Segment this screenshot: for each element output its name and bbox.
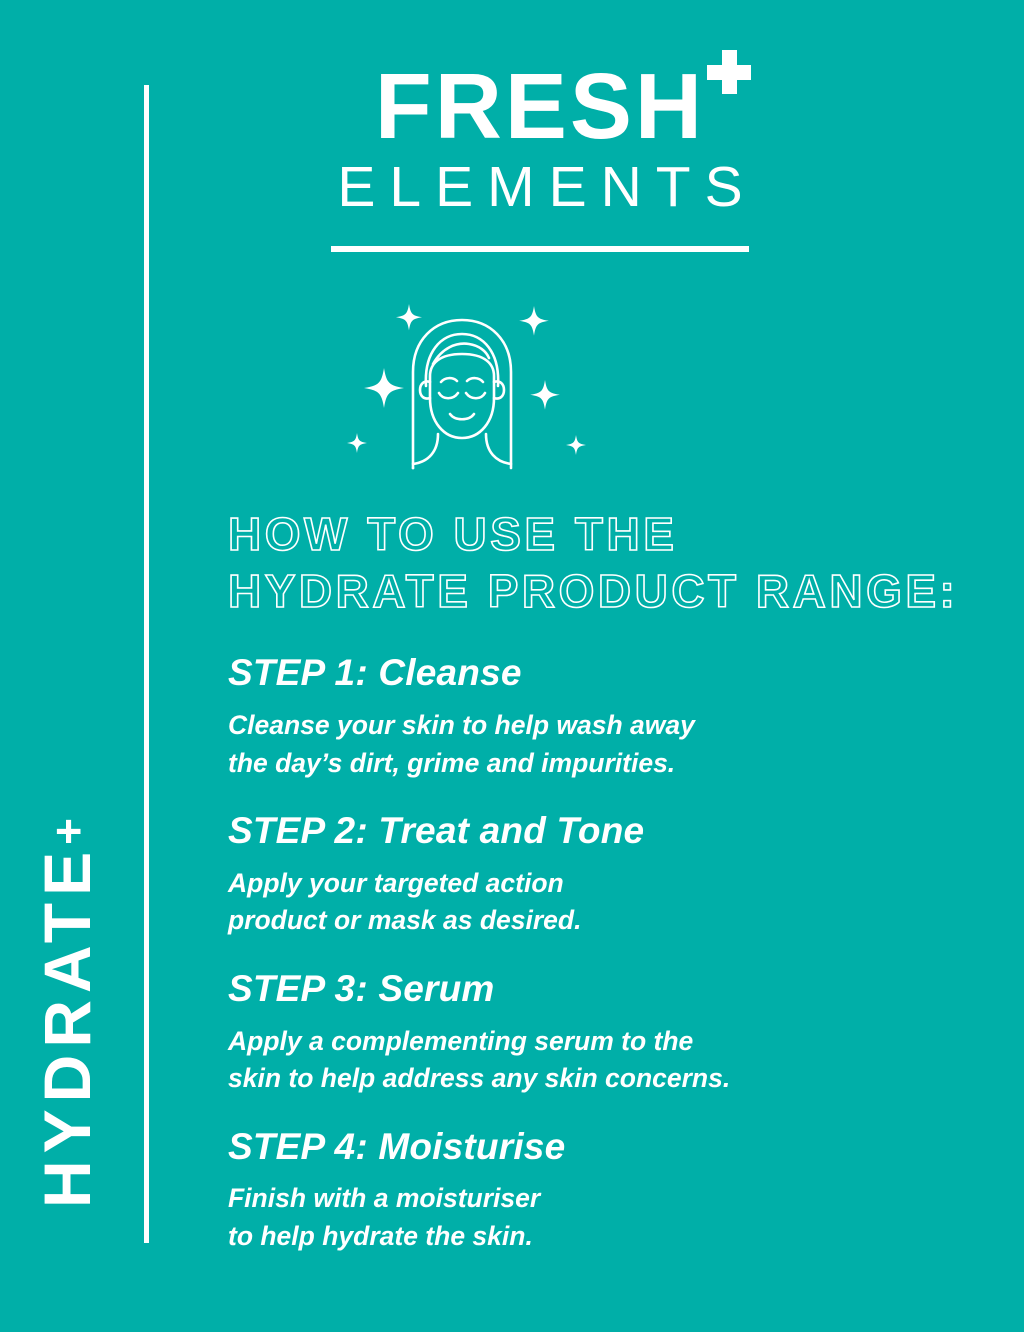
step-body: Apply your targeted action product or ma… bbox=[228, 865, 1024, 940]
step-body-line: to help hydrate the skin. bbox=[228, 1218, 1024, 1256]
step-title: STEP 1: Cleanse bbox=[228, 652, 1024, 695]
step-title: STEP 2: Treat and Tone bbox=[228, 810, 1024, 853]
step-item: STEP 2: Treat and Tone Apply your target… bbox=[228, 810, 1024, 940]
sparkles-group bbox=[347, 304, 586, 455]
logo-primary-row: FRESH bbox=[375, 62, 705, 150]
logo-primary-text: FRESH bbox=[375, 62, 705, 150]
face-with-sparkles-icon bbox=[338, 290, 618, 480]
logo-underline-rule bbox=[331, 246, 749, 252]
side-label-plus-icon: + bbox=[42, 818, 94, 845]
section-heading: HOW TO USE THE HYDRATE PRODUCT RANGE: bbox=[228, 506, 1024, 620]
step-body-line: Apply a complementing serum to the bbox=[228, 1023, 1024, 1061]
step-body-line: skin to help address any skin concerns. bbox=[228, 1060, 1024, 1098]
plus-icon bbox=[707, 50, 751, 94]
step-body: Finish with a moisturiser to help hydrat… bbox=[228, 1180, 1024, 1255]
section-heading-line-2: HYDRATE PRODUCT RANGE: bbox=[228, 563, 1024, 620]
step-body: Apply a complementing serum to the skin … bbox=[228, 1023, 1024, 1098]
logo-secondary-text: ELEMENTS bbox=[190, 154, 890, 220]
side-label-hydrate: HYDRATE+ bbox=[34, 733, 100, 1293]
step-body-line: product or mask as desired. bbox=[228, 902, 1024, 940]
step-item: STEP 4: Moisturise Finish with a moistur… bbox=[228, 1126, 1024, 1256]
step-body-line: Apply your targeted action bbox=[228, 865, 1024, 903]
step-body-line: Finish with a moisturiser bbox=[228, 1180, 1024, 1218]
section-heading-line-1: HOW TO USE THE bbox=[228, 506, 1024, 563]
step-title: STEP 3: Serum bbox=[228, 968, 1024, 1011]
step-body-line: the day’s dirt, grime and impurities. bbox=[228, 745, 1024, 783]
brand-logo: FRESH ELEMENTS bbox=[190, 0, 890, 252]
content-column: FRESH ELEMENTS bbox=[176, 0, 1024, 1332]
step-body-line: Cleanse your skin to help wash away bbox=[228, 707, 1024, 745]
step-body: Cleanse your skin to help wash away the … bbox=[228, 707, 1024, 782]
step-item: STEP 3: Serum Apply a complementing seru… bbox=[228, 968, 1024, 1098]
steps-list: STEP 1: Cleanse Cleanse your skin to hel… bbox=[228, 652, 1024, 1255]
step-item: STEP 1: Cleanse Cleanse your skin to hel… bbox=[228, 652, 1024, 782]
side-label-text: HYDRATE bbox=[30, 845, 104, 1208]
step-title: STEP 4: Moisturise bbox=[228, 1126, 1024, 1169]
vertical-divider-rule bbox=[144, 85, 149, 1243]
